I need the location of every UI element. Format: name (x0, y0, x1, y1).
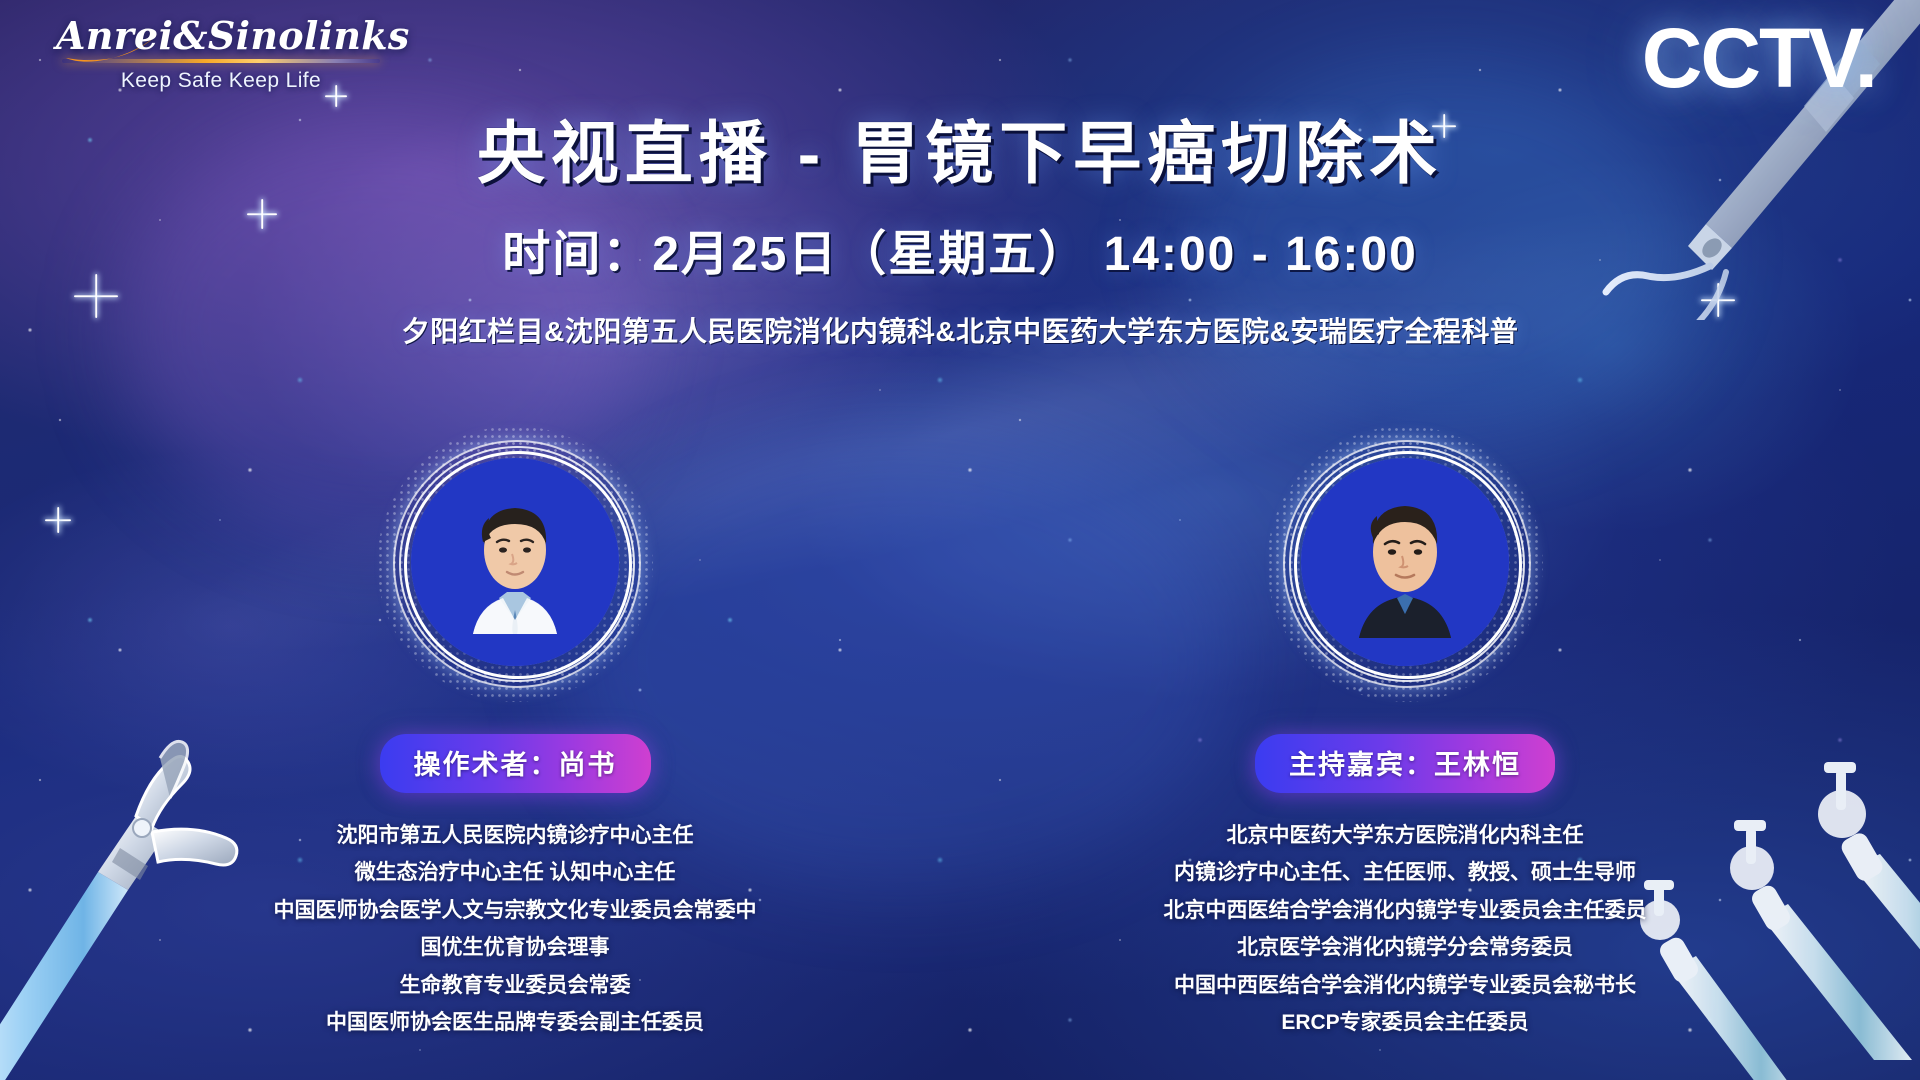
headline-block: 央视直播 - 胃镜下早癌切除术 时间：2月25日（星期五） 14:00 - 16… (0, 120, 1920, 350)
list-item: 沈阳市第五人民医院内镜诊疗中心主任 (274, 817, 757, 854)
speaker-photo (411, 458, 619, 666)
avatar (1295, 452, 1515, 672)
livestream-poster: Anrei&Sinolinks Keep Safe Keep Life CCTV… (0, 0, 1920, 1080)
cctv-logo: CCTV. (1642, 16, 1876, 100)
list-item: 中国医师协会医学人文与宗教文化专业委员会常委中 (274, 892, 757, 929)
list-item: 北京中西医结合学会消化内镜学专业委员会主任委员 (1164, 892, 1647, 929)
speaker-role-badge: 操作术者：尚书 (380, 734, 651, 793)
list-item: ERCP专家委员会主任委员 (1164, 1004, 1647, 1041)
list-item: 中国医师协会医生品牌专委会副主任委员 (274, 1004, 757, 1041)
speaker-card: 操作术者：尚书 沈阳市第五人民医院内镜诊疗中心主任 微生态治疗中心主任 认知中心… (280, 452, 750, 1041)
brand-logo: Anrei&Sinolinks Keep Safe Keep Life (56, 16, 386, 93)
speaker-card: 主持嘉宾：王林恒 北京中医药大学东方医院消化内科主任 内镜诊疗中心主任、主任医师… (1170, 452, 1640, 1041)
brand-tagline: Keep Safe Keep Life (56, 69, 386, 93)
list-item: 北京医学会消化内镜学分会常务委员 (1164, 929, 1647, 966)
speaker-credentials: 北京中医药大学东方医院消化内科主任 内镜诊疗中心主任、主任医师、教授、硕士生导师… (1164, 817, 1647, 1041)
speaker-credentials: 沈阳市第五人民医院内镜诊疗中心主任 微生态治疗中心主任 认知中心主任 中国医师协… (274, 817, 757, 1041)
speakers-section: 操作术者：尚书 沈阳市第五人民医院内镜诊疗中心主任 微生态治疗中心主任 认知中心… (0, 452, 1920, 1041)
list-item: 国优生优育协会理事 (274, 929, 757, 966)
list-item: 生命教育专业委员会常委 (274, 967, 757, 1004)
event-time: 时间：2月25日（星期五） 14:00 - 16:00 (0, 214, 1920, 284)
list-item: 微生态治疗中心主任 认知中心主任 (274, 854, 757, 891)
brand-wordmark: Anrei&Sinolinks (56, 16, 386, 56)
speaker-role-badge: 主持嘉宾：王林恒 (1255, 734, 1555, 793)
partners-line: 夕阳红栏目&沈阳第五人民医院消化内镜科&北京中医药大学东方医院&安瑞医疗全程科普 (0, 310, 1920, 350)
avatar (405, 452, 625, 672)
list-item: 北京中医药大学东方医院消化内科主任 (1164, 817, 1647, 854)
list-item: 中国中西医结合学会消化内镜学专业委员会秘书长 (1164, 967, 1647, 1004)
list-item: 内镜诊疗中心主任、主任医师、教授、硕士生导师 (1164, 854, 1647, 891)
speaker-photo (1301, 458, 1509, 666)
page-title: 央视直播 - 胃镜下早癌切除术 (0, 120, 1920, 188)
